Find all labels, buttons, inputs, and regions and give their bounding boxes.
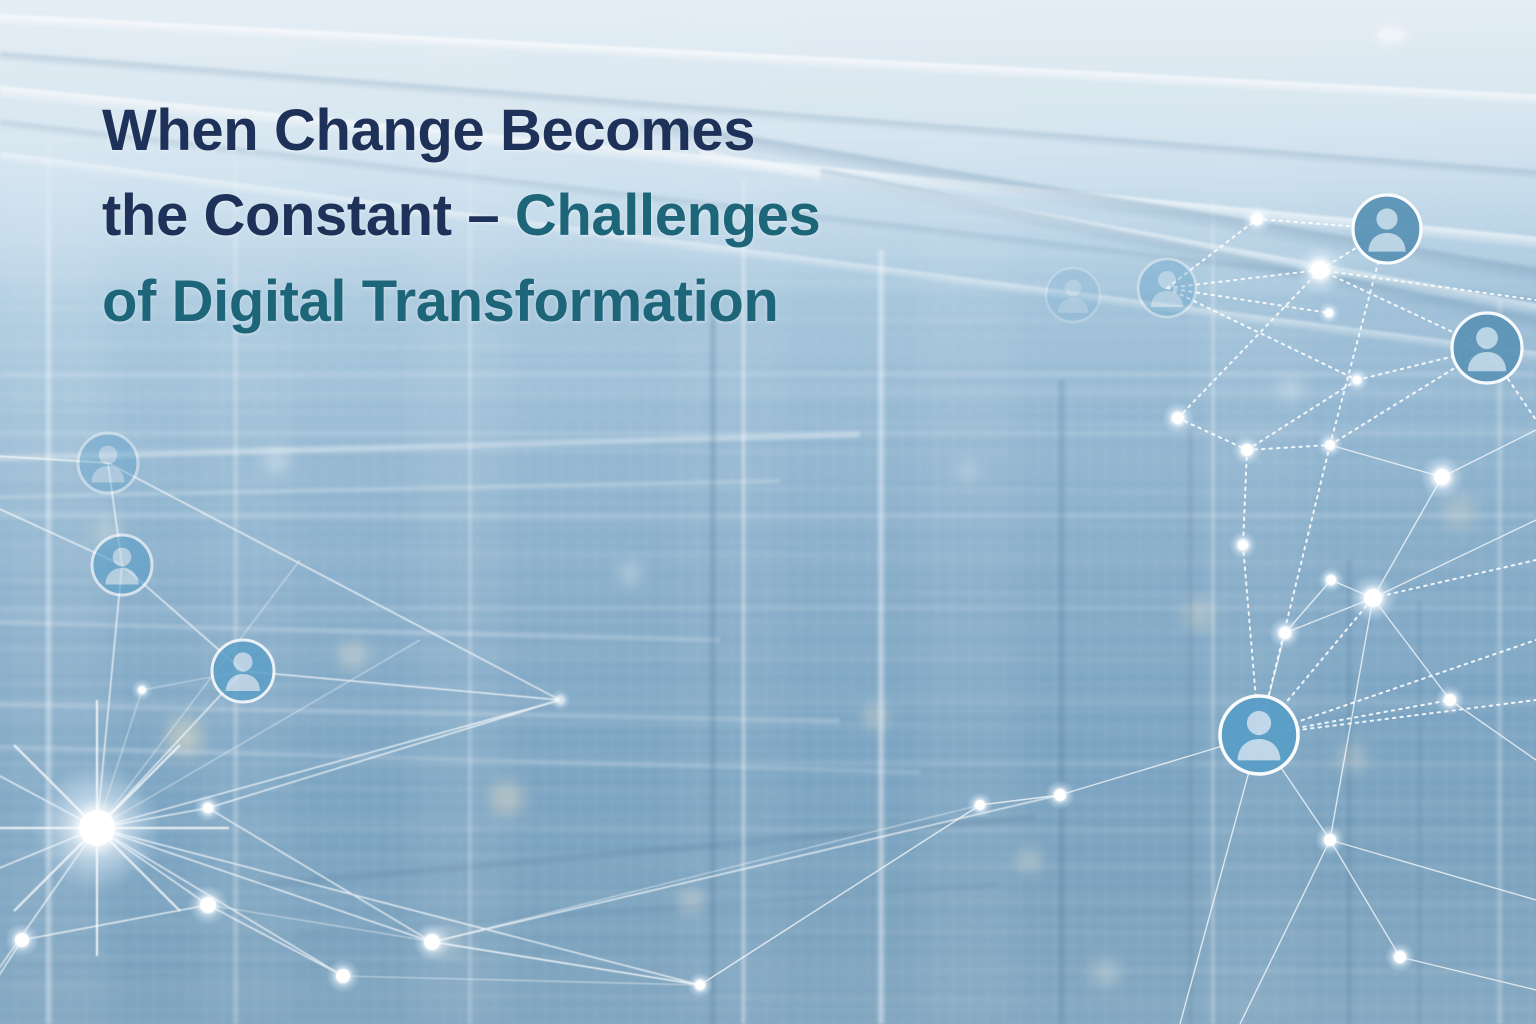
person-node-left-lower [212, 640, 274, 702]
hero-title: When Change Becomes the Constant – Chall… [102, 88, 1002, 344]
hero-title-line-2-navy: the Constant – [102, 183, 515, 248]
link-group-left [0, 455, 1060, 1020]
hero-banner: When Change Becomes the Constant – Chall… [0, 0, 1536, 1024]
hero-title-line-1-navy: When Change Becomes [102, 98, 755, 163]
hero-title-line-3: of Digital Transformation [102, 259, 1002, 344]
hero-title-line-3-teal: of Digital Transformation [102, 269, 778, 334]
hero-title-line-2: the Constant – Challenges [102, 173, 1002, 258]
hero-title-line-2-teal: Challenges [515, 183, 820, 248]
person-node-faint-center [1046, 268, 1100, 322]
person-node-right [1452, 313, 1522, 383]
person-node-faint-right [1138, 259, 1196, 317]
person-node-top-right [1353, 195, 1421, 263]
hero-title-line-1: When Change Becomes [102, 88, 1002, 173]
person-node-left [92, 535, 152, 595]
person-node-upper-left [78, 433, 138, 493]
person-node-large-lower-right [1220, 696, 1298, 774]
